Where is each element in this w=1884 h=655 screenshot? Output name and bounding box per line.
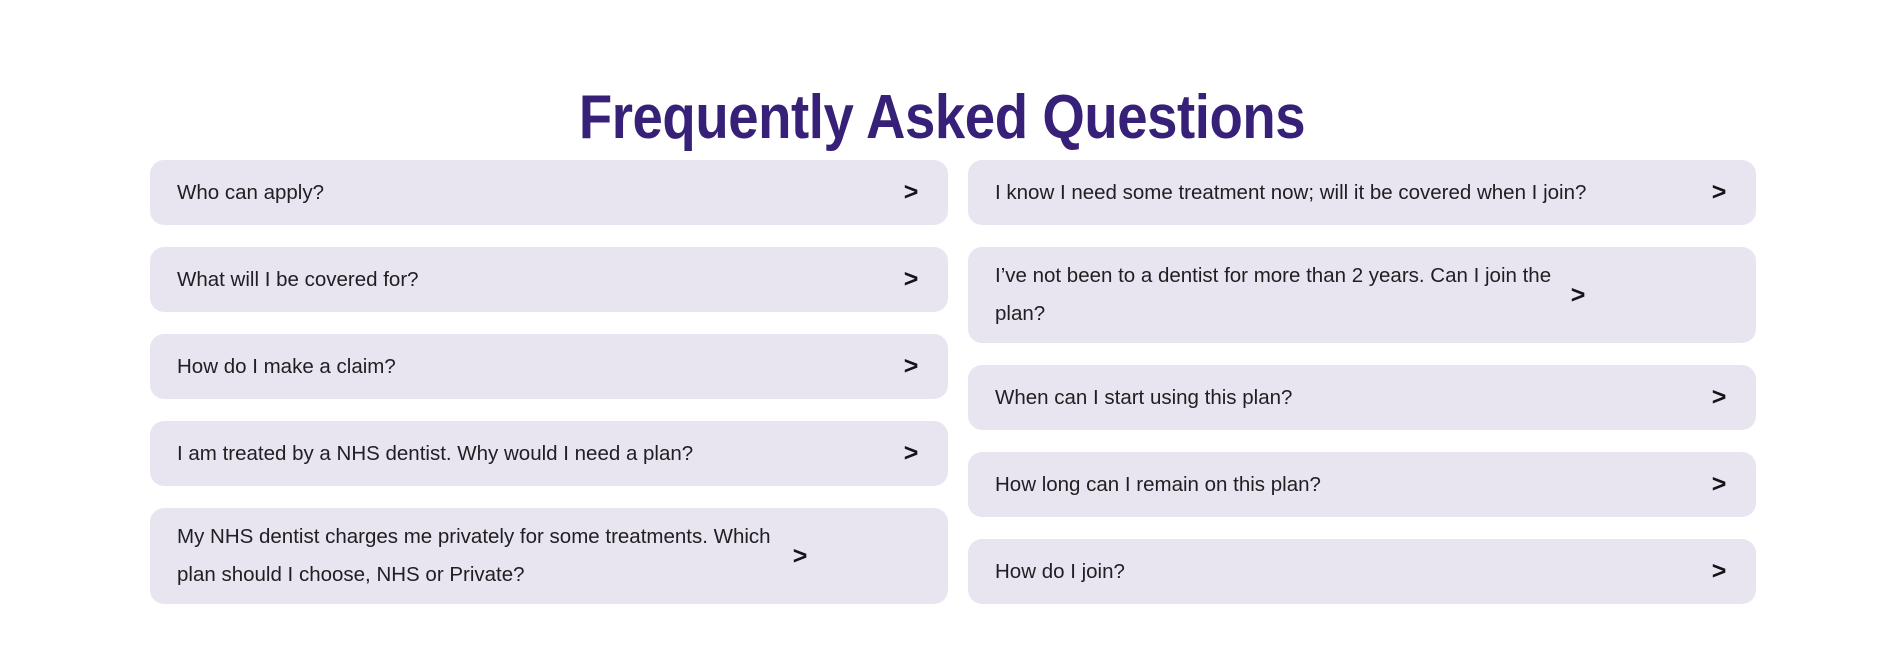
- chevron-right-icon[interactable]: >: [902, 180, 920, 205]
- faq-item[interactable]: I know I need some treatment now; will i…: [968, 160, 1756, 225]
- chevron-right-icon[interactable]: >: [1710, 385, 1728, 410]
- faq-question-label: I am treated by a NHS dentist. Why would…: [177, 435, 902, 473]
- chevron-right-icon[interactable]: >: [791, 544, 809, 569]
- faq-question-label: My NHS dentist charges me privately for …: [177, 518, 791, 594]
- faq-question-label: What will I be covered for?: [177, 261, 902, 299]
- page-title: Frequently Asked Questions: [113, 80, 1771, 156]
- faq-accordion-grid: Who can apply? > What will I be covered …: [150, 160, 1756, 604]
- faq-question-label: How do I make a claim?: [177, 348, 902, 386]
- faq-item[interactable]: How do I make a claim? >: [150, 334, 948, 399]
- faq-item[interactable]: How long can I remain on this plan? >: [968, 452, 1756, 517]
- chevron-right-icon[interactable]: >: [1569, 283, 1587, 308]
- chevron-right-icon[interactable]: >: [902, 267, 920, 292]
- faq-item[interactable]: How do I join? >: [968, 539, 1756, 604]
- chevron-right-icon[interactable]: >: [902, 441, 920, 466]
- faq-item[interactable]: I’ve not been to a dentist for more than…: [968, 247, 1756, 343]
- chevron-right-icon[interactable]: >: [902, 354, 920, 379]
- chevron-right-icon[interactable]: >: [1710, 559, 1728, 584]
- faq-item[interactable]: My NHS dentist charges me privately for …: [150, 508, 948, 604]
- faq-question-label: When can I start using this plan?: [995, 379, 1710, 417]
- faq-question-label: How do I join?: [995, 553, 1710, 591]
- faq-question-label: Who can apply?: [177, 174, 902, 212]
- faq-column-left: Who can apply? > What will I be covered …: [150, 160, 948, 604]
- chevron-right-icon[interactable]: >: [1710, 472, 1728, 497]
- faq-question-label: How long can I remain on this plan?: [995, 466, 1710, 504]
- faq-question-label: I know I need some treatment now; will i…: [995, 174, 1710, 212]
- faq-column-right: I know I need some treatment now; will i…: [968, 160, 1756, 604]
- faq-item[interactable]: What will I be covered for? >: [150, 247, 948, 312]
- faq-item[interactable]: I am treated by a NHS dentist. Why would…: [150, 421, 948, 486]
- faq-page: Frequently Asked Questions Who can apply…: [0, 0, 1884, 655]
- faq-question-label: I’ve not been to a dentist for more than…: [995, 257, 1569, 333]
- faq-item[interactable]: When can I start using this plan? >: [968, 365, 1756, 430]
- chevron-right-icon[interactable]: >: [1710, 180, 1728, 205]
- faq-item[interactable]: Who can apply? >: [150, 160, 948, 225]
